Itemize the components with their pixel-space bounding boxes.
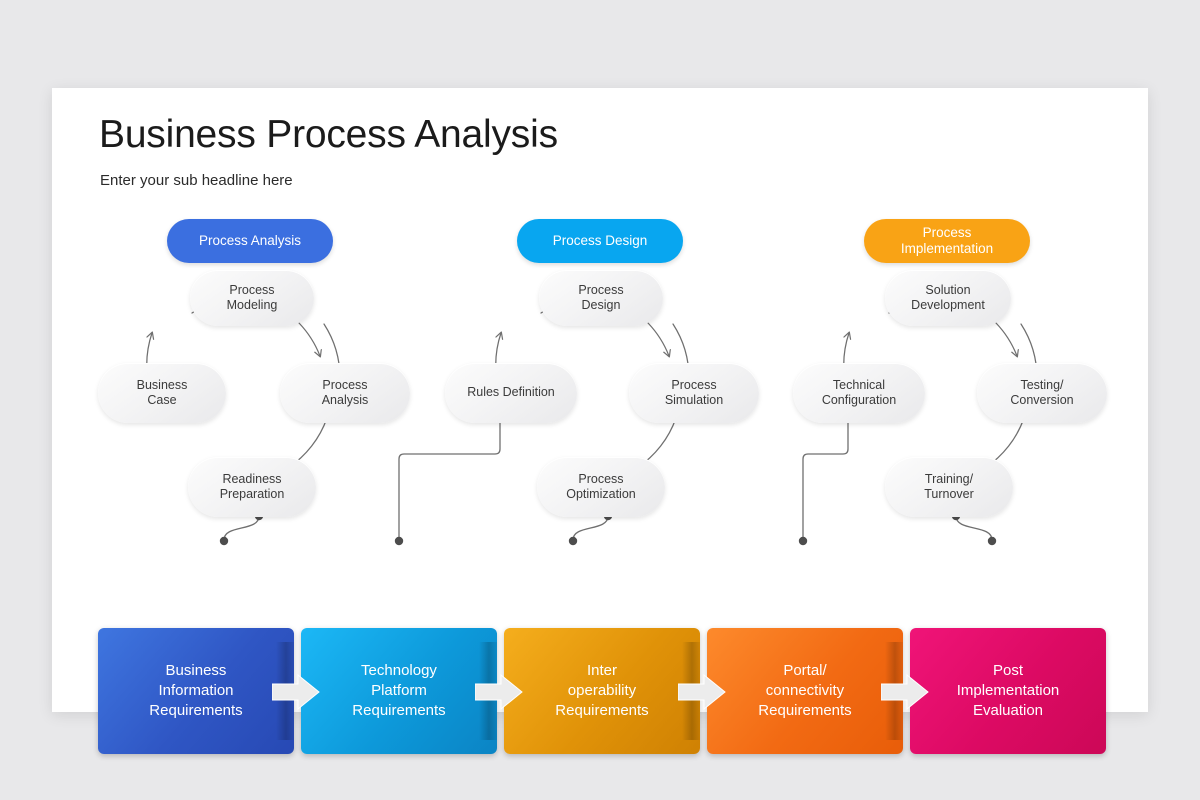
page-title: Business Process Analysis bbox=[99, 113, 558, 157]
box-label: Inter operability Requirements bbox=[541, 661, 662, 722]
slide-card: Business Process Analysis Enter your sub… bbox=[52, 88, 1148, 712]
box-label: Technology Platform Requirements bbox=[338, 661, 459, 722]
node-business-case[interactable]: Business Case bbox=[98, 363, 226, 423]
node-solution-development[interactable]: Solution Development bbox=[885, 270, 1011, 326]
cluster-header-process-design[interactable]: Process Design bbox=[517, 219, 683, 263]
box-post-implementation-evaluation[interactable]: Post Implementation Evaluation bbox=[910, 628, 1106, 754]
box-business-information-requirements[interactable]: Business Information Requirements bbox=[98, 628, 294, 754]
box-inter-operability-requirements[interactable]: Inter operability Requirements bbox=[504, 628, 700, 754]
box-label: Business Information Requirements bbox=[135, 661, 256, 722]
node-process-analysis[interactable]: Process Analysis bbox=[280, 363, 410, 423]
box-technology-platform-requirements[interactable]: Technology Platform Requirements bbox=[301, 628, 497, 754]
node-process-optimization[interactable]: Process Optimization bbox=[537, 457, 665, 517]
cluster-header-process-implementation[interactable]: Process Implementation bbox=[864, 219, 1030, 263]
node-training-turnover[interactable]: Training/ Turnover bbox=[885, 457, 1013, 517]
forward-arrow-icon-4 bbox=[881, 674, 929, 710]
node-readiness-preparation[interactable]: Readiness Preparation bbox=[188, 457, 316, 517]
node-process-modeling[interactable]: Process Modeling bbox=[190, 270, 314, 326]
box-label: Portal/ connectivity Requirements bbox=[744, 661, 865, 722]
node-technical-configuration[interactable]: Technical Configuration bbox=[793, 363, 925, 423]
forward-arrow-icon-3 bbox=[678, 674, 726, 710]
cluster-header-process-analysis[interactable]: Process Analysis bbox=[167, 219, 333, 263]
node-process-simulation[interactable]: Process Simulation bbox=[629, 363, 759, 423]
box-label: Post Implementation Evaluation bbox=[943, 661, 1074, 722]
node-testing-conversion[interactable]: Testing/ Conversion bbox=[977, 363, 1107, 423]
forward-arrow-icon-1 bbox=[272, 674, 320, 710]
box-portal-connectivity-requirements[interactable]: Portal/ connectivity Requirements bbox=[707, 628, 903, 754]
forward-arrow-icon-2 bbox=[475, 674, 523, 710]
node-process-design[interactable]: Process Design bbox=[539, 270, 663, 326]
page-subtitle: Enter your sub headline here bbox=[100, 172, 293, 189]
node-rules-definition[interactable]: Rules Definition bbox=[445, 363, 577, 423]
